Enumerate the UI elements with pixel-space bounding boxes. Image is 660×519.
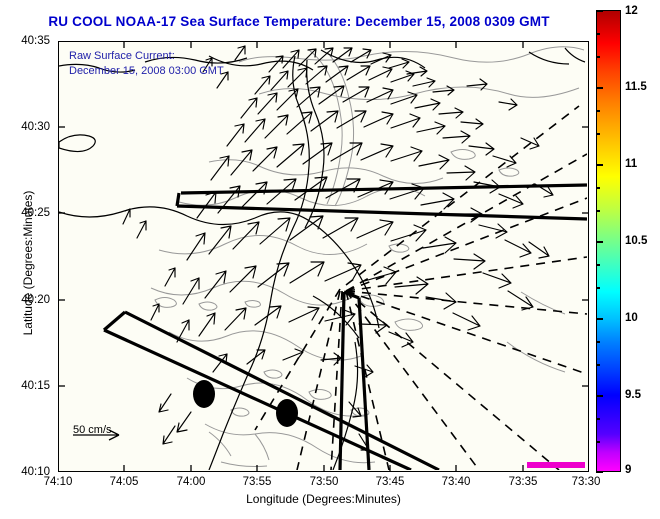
colorbar-tick-label: 12: [625, 5, 638, 17]
page-title: RU COOL NOAA-17 Sea Surface Temperature:…: [0, 14, 598, 29]
colorbar-tick-label: 9.5: [625, 389, 641, 401]
x-tick-label: 73:30: [572, 476, 601, 488]
y-tick-label: 40:30: [2, 121, 50, 133]
x-tick-label: 73:40: [442, 476, 471, 488]
x-tick-label: 73:50: [310, 476, 339, 488]
x-tick-label: 73:35: [509, 476, 538, 488]
y-tick-label: 40:35: [2, 35, 50, 47]
y-tick-label: 40:10: [2, 466, 50, 478]
colorbar-tick-label: 9: [625, 464, 631, 476]
colorbar-tick-label: 11.5: [625, 81, 647, 93]
y-axis-title: Latitude (Degrees:Minutes): [21, 143, 35, 383]
x-tick-label: 73:45: [376, 476, 405, 488]
colorbar-tick-label: 10: [625, 312, 638, 324]
x-tick-label: 74:00: [177, 476, 206, 488]
x-tick-label: 74:05: [110, 476, 139, 488]
colorbar-tick-label: 11: [625, 158, 637, 170]
x-tick-label: 73:55: [243, 476, 272, 488]
colorbar-tick-label: 10.5: [625, 235, 647, 247]
axis-ticks: [58, 41, 589, 472]
x-axis-title: Longitude (Degrees:Minutes): [58, 492, 589, 506]
